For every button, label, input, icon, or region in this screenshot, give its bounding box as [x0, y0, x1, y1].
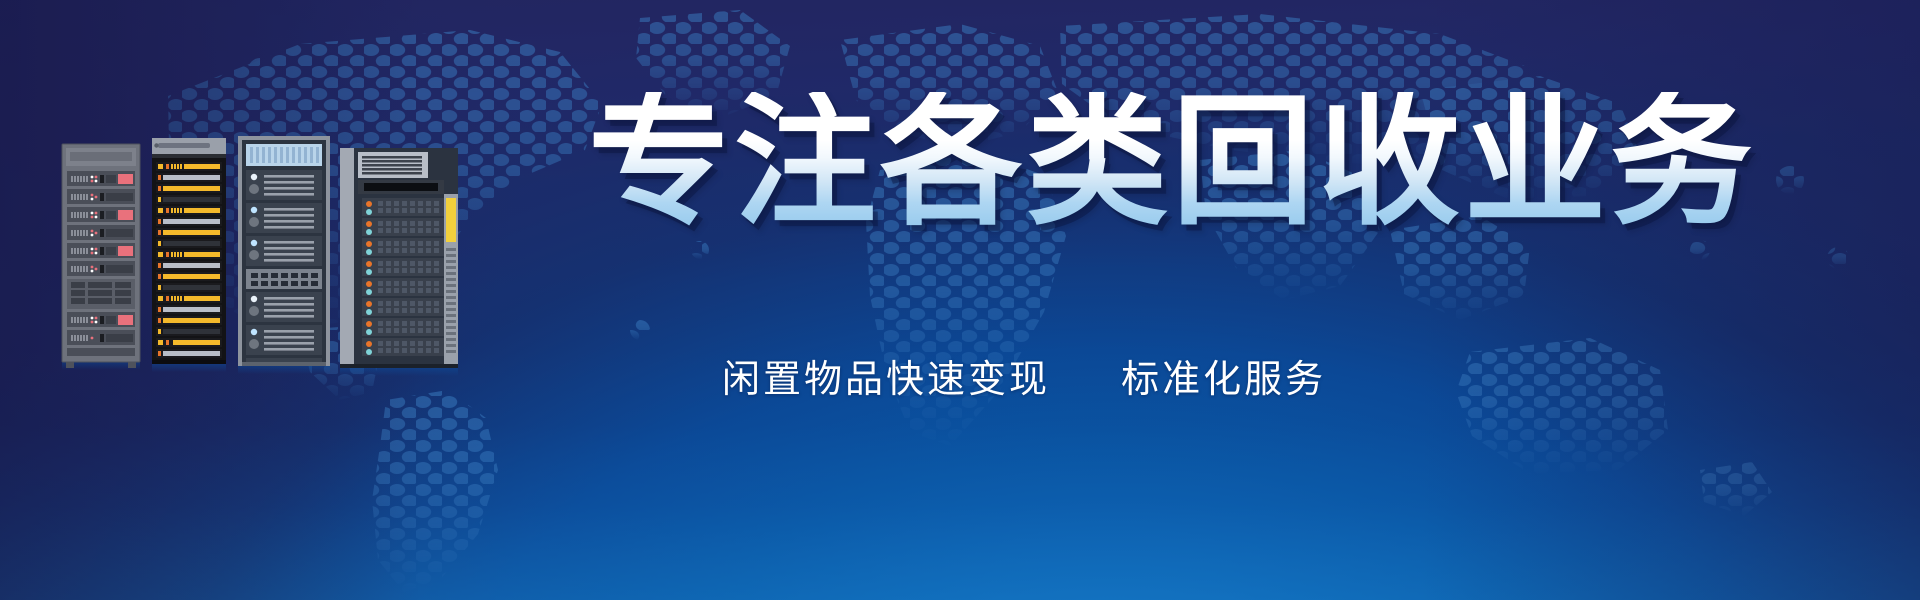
server-rack-1	[62, 144, 140, 370]
server-racks-illustration	[40, 136, 510, 386]
promo-banner: 专注各类回收业务 闲置物品快速变现 标准化服务	[0, 0, 1920, 600]
server-rack-3	[238, 136, 330, 374]
banner-subtitle: 闲置物品快速变现 标准化服务	[722, 357, 1326, 405]
banner-headline: 专注各类回收业务	[588, 92, 1756, 234]
subtitle-phrase-2: 标准化服务	[1121, 359, 1326, 401]
server-rack-2	[152, 138, 226, 372]
server-rack-4	[340, 148, 458, 376]
subtitle-phrase-1: 闲置物品快速变现	[722, 359, 1050, 401]
